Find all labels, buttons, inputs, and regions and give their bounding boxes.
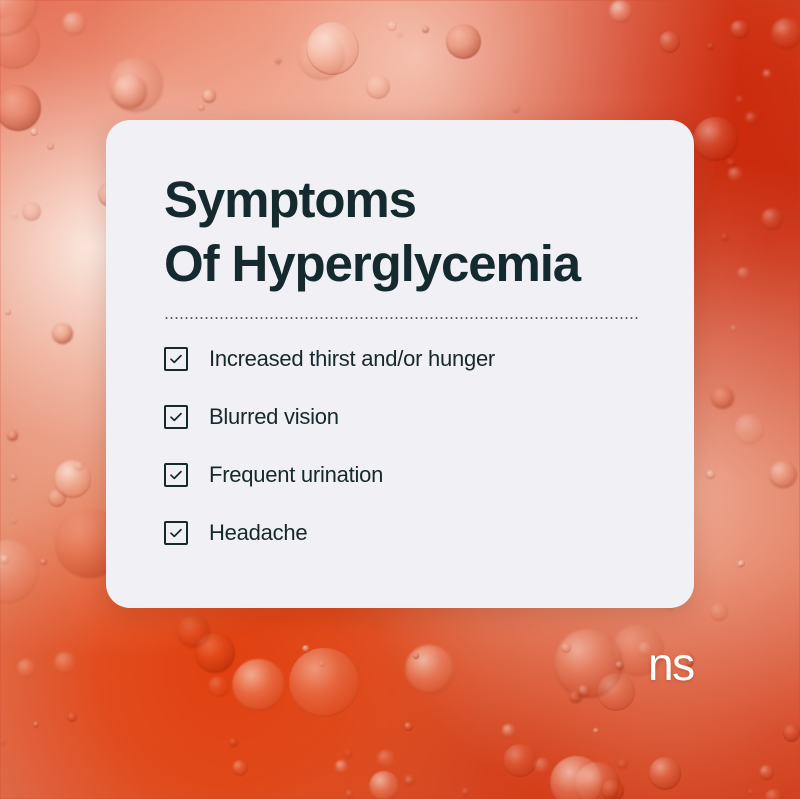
symptoms-card: Symptoms Of Hyperglycemia Increased thir… — [106, 120, 694, 608]
checkbox-checked-icon[interactable] — [164, 521, 188, 545]
list-item[interactable]: Headache — [164, 519, 644, 547]
list-item[interactable]: Blurred vision — [164, 403, 644, 431]
symptom-label: Blurred vision — [209, 403, 339, 431]
list-item[interactable]: Increased thirst and/or hunger — [164, 345, 644, 373]
brand-logo[interactable]: ns — [648, 641, 694, 687]
page-title: Symptoms Of Hyperglycemia — [164, 168, 644, 296]
card-content: Symptoms Of Hyperglycemia Increased thir… — [164, 168, 644, 547]
checkbox-checked-icon[interactable] — [164, 463, 188, 487]
infographic-canvas: Symptoms Of Hyperglycemia Increased thir… — [0, 0, 800, 799]
list-item[interactable]: Frequent urination — [164, 461, 644, 489]
checkbox-checked-icon[interactable] — [164, 347, 188, 371]
symptom-label: Frequent urination — [209, 461, 383, 489]
symptom-label: Headache — [209, 519, 307, 547]
checkbox-checked-icon[interactable] — [164, 405, 188, 429]
symptom-list: Increased thirst and/or hunger Blurred v… — [164, 345, 644, 547]
dotted-divider — [164, 317, 638, 319]
symptom-label: Increased thirst and/or hunger — [209, 345, 495, 373]
